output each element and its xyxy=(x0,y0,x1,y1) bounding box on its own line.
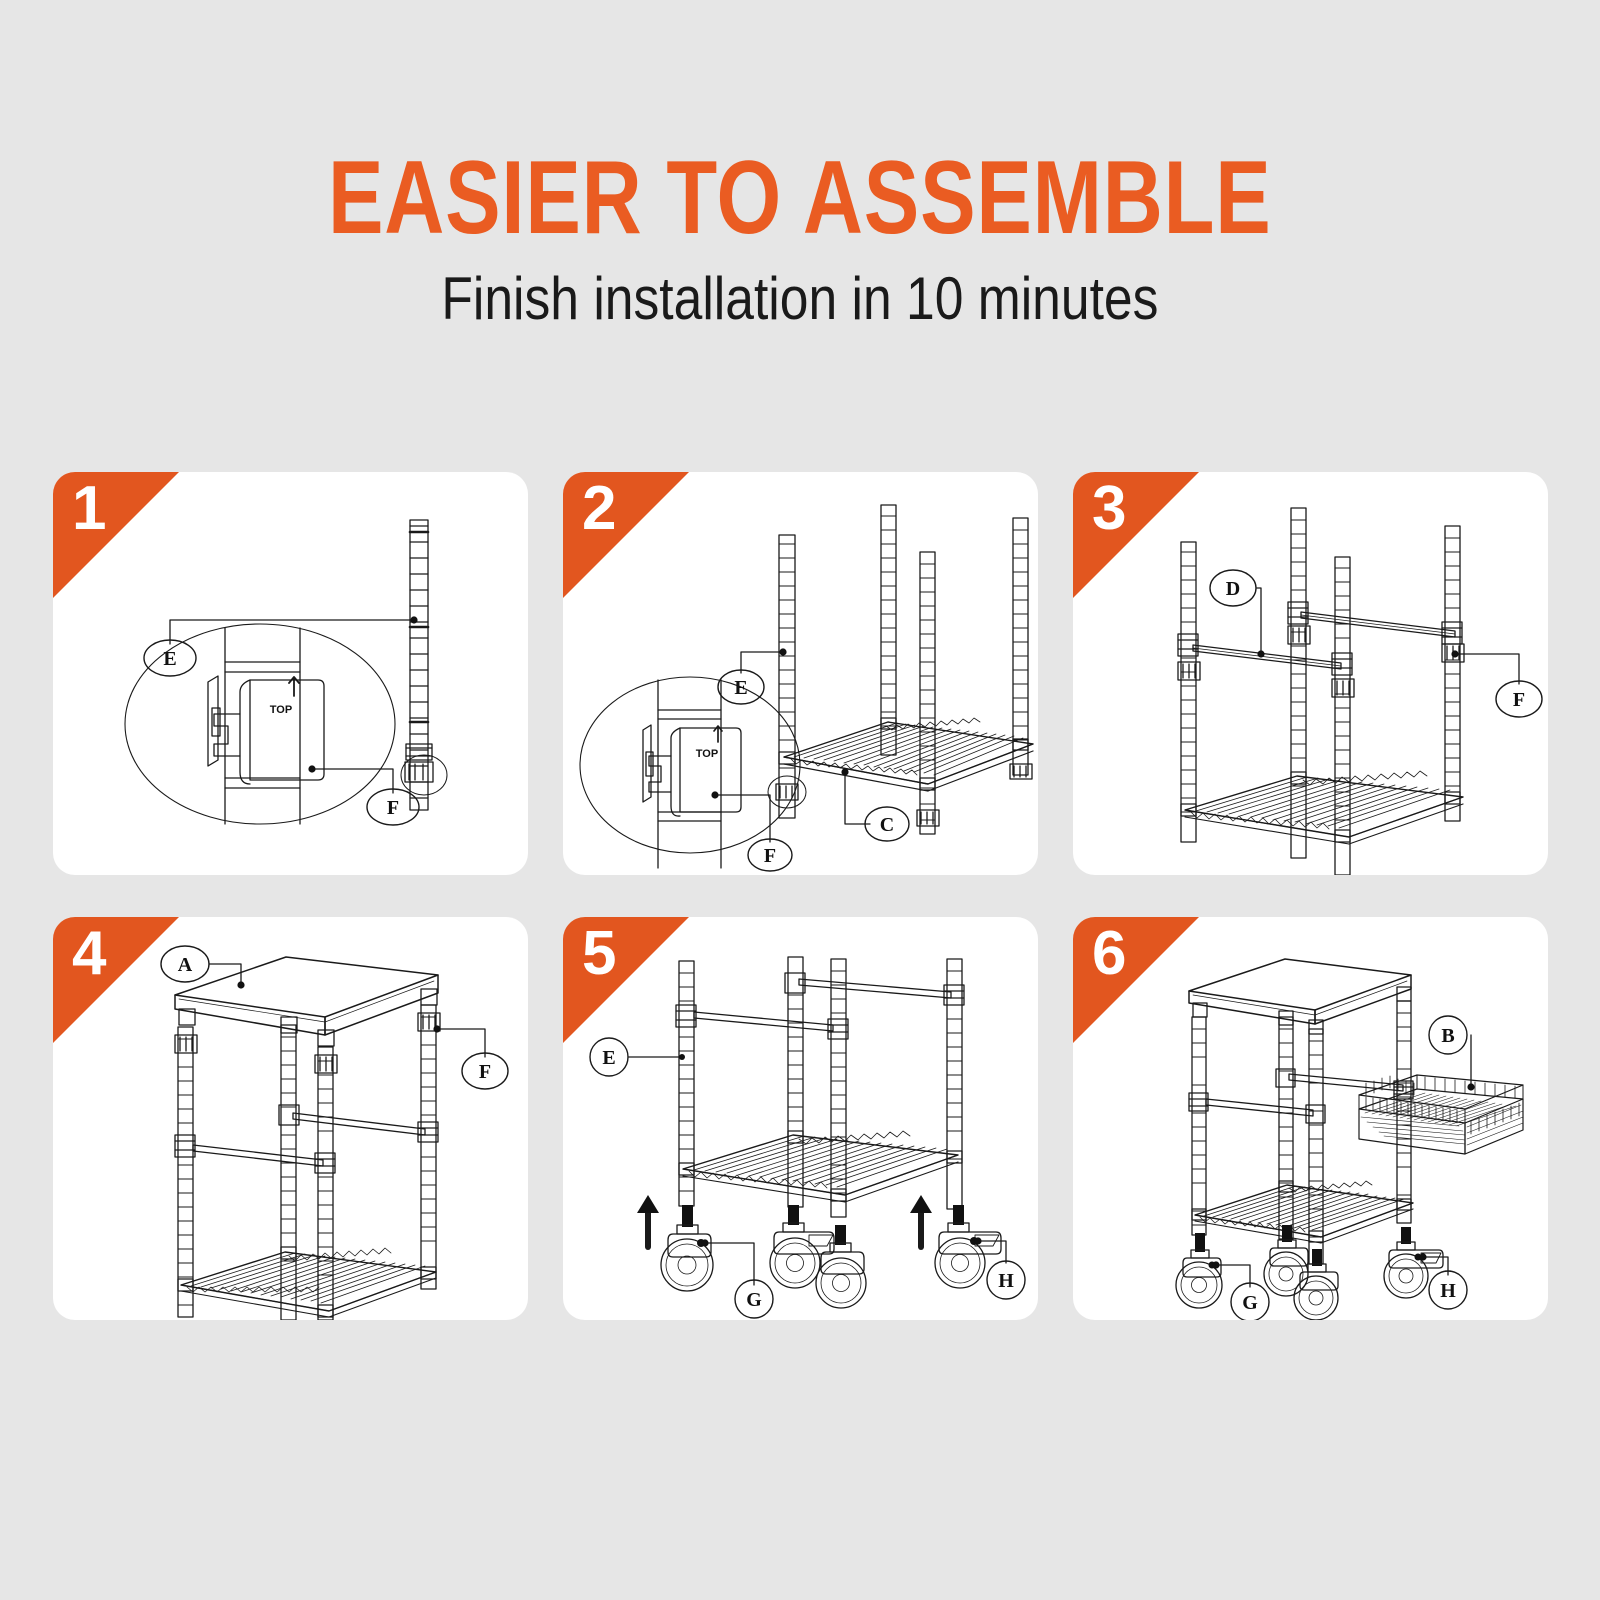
cross-bars-5 xyxy=(694,979,951,1031)
label-e: E xyxy=(163,648,176,670)
header-block: EASIER TO ASSEMBLE Finish installation i… xyxy=(0,0,1600,430)
page-subtitle: Finish installation in 10 minutes xyxy=(441,268,1158,330)
pole-e-graphic xyxy=(405,520,433,810)
label-d: D xyxy=(1226,578,1240,600)
step-card-5: 5 xyxy=(563,917,1038,1320)
leader-line-d xyxy=(1257,588,1265,658)
bar-collars-5 xyxy=(676,973,964,1039)
label-h: H xyxy=(998,1270,1014,1292)
step-4-illustration: A F xyxy=(53,917,528,1320)
caster-g-graphic xyxy=(661,1205,713,1291)
cross-bars-4 xyxy=(193,1113,425,1166)
wire-shelf-6 xyxy=(1192,1181,1413,1243)
label-b: B xyxy=(1441,1025,1454,1047)
leader-line-e-2 xyxy=(741,648,787,673)
top-board-6 xyxy=(1189,959,1411,1034)
step-card-2: 2 xyxy=(563,472,1038,875)
caster-mid2-graphic-6 xyxy=(1294,1249,1338,1320)
top-board-a xyxy=(175,957,438,1046)
label-a: A xyxy=(178,954,193,976)
poles-group-6 xyxy=(1192,1001,1411,1264)
caster-g-graphic-6 xyxy=(1176,1233,1222,1308)
wire-basket-b xyxy=(1359,1075,1523,1154)
pole-detail-graphic: TOP xyxy=(208,628,324,824)
wire-shelf-bottom-3 xyxy=(1181,771,1463,844)
step-card-6: 6 xyxy=(1073,917,1548,1320)
caster-mid2-graphic xyxy=(816,1225,866,1308)
label-f: F xyxy=(764,845,776,867)
caster-h-graphic-6 xyxy=(1384,1227,1443,1298)
label-c: C xyxy=(880,814,894,836)
step-6-illustration: B G H xyxy=(1073,917,1548,1320)
leader-line-f-3 xyxy=(1451,650,1519,684)
wire-shelf-c xyxy=(779,718,1033,791)
cross-bar-d xyxy=(1193,612,1455,669)
step-card-1: 1 xyxy=(53,472,528,875)
cross-bars-6 xyxy=(1206,1074,1403,1116)
label-e: E xyxy=(602,1047,615,1069)
step-1-illustration: TOP E F xyxy=(53,472,528,875)
leader-line-e-5 xyxy=(629,1054,685,1060)
step-3-illustration: D F xyxy=(1073,472,1548,875)
steps-grid: 1 xyxy=(53,472,1548,1322)
leader-line-f-4 xyxy=(433,1025,485,1057)
arrow-up-right xyxy=(910,1195,932,1247)
poles-group-5 xyxy=(679,957,962,1217)
sleeve-clips xyxy=(768,764,1032,826)
step-card-3: 3 xyxy=(1073,472,1548,875)
label-f: F xyxy=(1513,689,1525,711)
label-h: H xyxy=(1440,1280,1456,1302)
step-card-4: 4 xyxy=(53,917,528,1320)
label-f: F xyxy=(479,1061,491,1083)
label-g: G xyxy=(746,1289,762,1311)
svg-text:TOP: TOP xyxy=(696,748,718,760)
step-5-illustration: E G H xyxy=(563,917,1038,1320)
arrow-up-left xyxy=(637,1195,659,1247)
caster-mid1-graphic xyxy=(770,1205,834,1288)
page-title: EASIER TO ASSEMBLE xyxy=(328,150,1272,246)
leader-line-a xyxy=(209,964,245,989)
caster-h-graphic xyxy=(935,1205,1001,1288)
label-e: E xyxy=(734,677,747,699)
step-2-illustration: TOP xyxy=(563,472,1038,875)
poles-group-4 xyxy=(178,1005,436,1320)
label-f: F xyxy=(387,797,399,819)
wire-shelf-bottom-4 xyxy=(178,1247,436,1317)
pole-detail-graphic-2: TOP xyxy=(643,680,741,868)
bar-collars xyxy=(1178,602,1462,675)
poles-group xyxy=(779,505,1028,834)
label-g: G xyxy=(1242,1292,1258,1314)
leader-line-b xyxy=(1467,1035,1474,1091)
leader-line-e xyxy=(170,616,418,644)
svg-text:TOP: TOP xyxy=(270,704,292,716)
leader-line-c xyxy=(841,768,870,824)
sleeve-clips-4 xyxy=(175,1013,440,1073)
caster-mid1-graphic-6 xyxy=(1264,1225,1308,1296)
wire-shelf-5 xyxy=(679,1131,962,1202)
sleeve-clips-3 xyxy=(1178,626,1464,697)
